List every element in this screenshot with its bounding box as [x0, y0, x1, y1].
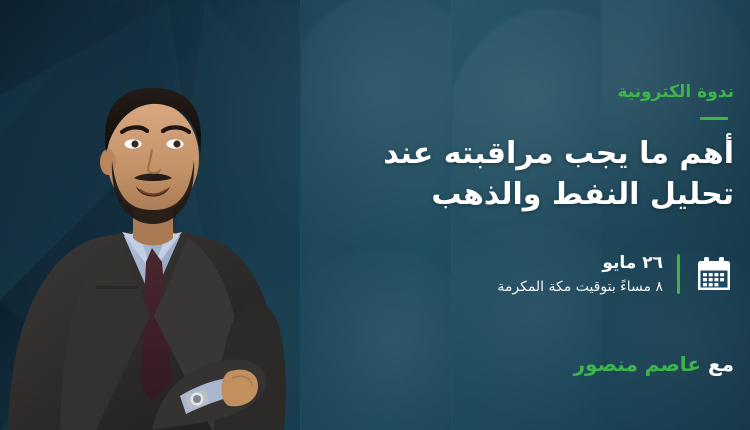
event-date-block: ٢٦ مايو ٨ مساءً بتوقيت مكة المكرمة: [497, 252, 734, 297]
webinar-banner: ندوة الكترونية أهم ما يجب مراقبته عند تح…: [0, 0, 750, 430]
presenter-credit: مع عاصم منصور: [574, 352, 734, 376]
eyebrow-divider: [700, 117, 728, 120]
event-date-text: ٢٦ مايو ٨ مساءً بتوقيت مكة المكرمة: [497, 252, 663, 297]
webinar-eyebrow-label: ندوة الكترونية: [617, 84, 734, 101]
headline-line-2: تحليل النفط والذهب: [214, 175, 734, 216]
presenter-name: عاصم منصور: [574, 352, 701, 376]
headline-line-1: أهم ما يجب مراقبته عند: [214, 134, 734, 175]
date-divider: [677, 254, 680, 294]
calendar-icon: [694, 254, 734, 294]
event-date-time: ٨ مساءً بتوقيت مكة المكرمة: [497, 279, 663, 295]
event-date-day: ٢٦ مايو: [602, 253, 663, 273]
presenter-prefix: مع: [708, 352, 734, 376]
page-title: أهم ما يجب مراقبته عند تحليل النفط والذه…: [214, 134, 734, 216]
banner-content: ندوة الكترونية أهم ما يجب مراقبته عند تح…: [214, 0, 734, 430]
